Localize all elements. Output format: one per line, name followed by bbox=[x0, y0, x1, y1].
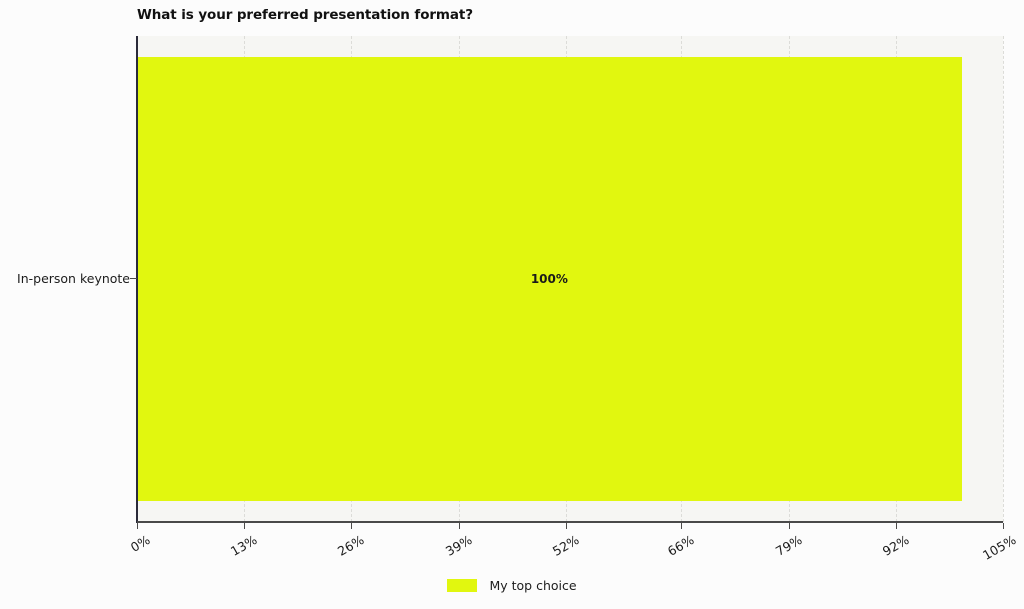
chart-legend: My top choice bbox=[0, 578, 1024, 593]
x-axis-tick-mark bbox=[137, 523, 138, 529]
x-axis-tick-mark bbox=[789, 523, 790, 529]
x-axis-tick-label: 13% bbox=[228, 532, 260, 559]
bar-value-label: 100% bbox=[531, 272, 568, 286]
x-axis-tick-label: 105% bbox=[980, 532, 1018, 563]
x-axis-tick-label: 66% bbox=[665, 532, 697, 559]
y-axis-spine bbox=[136, 36, 138, 523]
y-axis-tick-mark bbox=[130, 278, 137, 279]
legend-item-my-top-choice[interactable]: My top choice bbox=[447, 578, 576, 593]
gridline-vertical bbox=[1003, 36, 1004, 522]
x-axis-tick-label: 79% bbox=[772, 532, 804, 559]
plot-area bbox=[137, 36, 1003, 522]
x-axis-tick-mark bbox=[1003, 523, 1004, 529]
x-axis-tick-label: 0% bbox=[128, 532, 153, 555]
x-axis-tick-label: 52% bbox=[550, 532, 582, 559]
x-axis-tick-mark bbox=[681, 523, 682, 529]
legend-swatch-icon bbox=[447, 579, 477, 592]
x-axis-tick-label: 92% bbox=[880, 532, 912, 559]
x-axis-tick-mark bbox=[566, 523, 567, 529]
x-axis-tick-mark bbox=[459, 523, 460, 529]
chart-title: What is your preferred presentation form… bbox=[137, 7, 473, 23]
x-axis-tick-mark bbox=[244, 523, 245, 529]
x-axis-spine bbox=[137, 521, 1003, 523]
x-axis-tick-mark bbox=[896, 523, 897, 529]
x-axis-tick-label: 39% bbox=[443, 532, 475, 559]
x-axis-tick-mark bbox=[351, 523, 352, 529]
legend-label: My top choice bbox=[489, 578, 576, 593]
x-axis-tick-label: 26% bbox=[335, 532, 367, 559]
y-axis-tick-label-in-person-keynote: In-person keynote bbox=[17, 271, 130, 286]
